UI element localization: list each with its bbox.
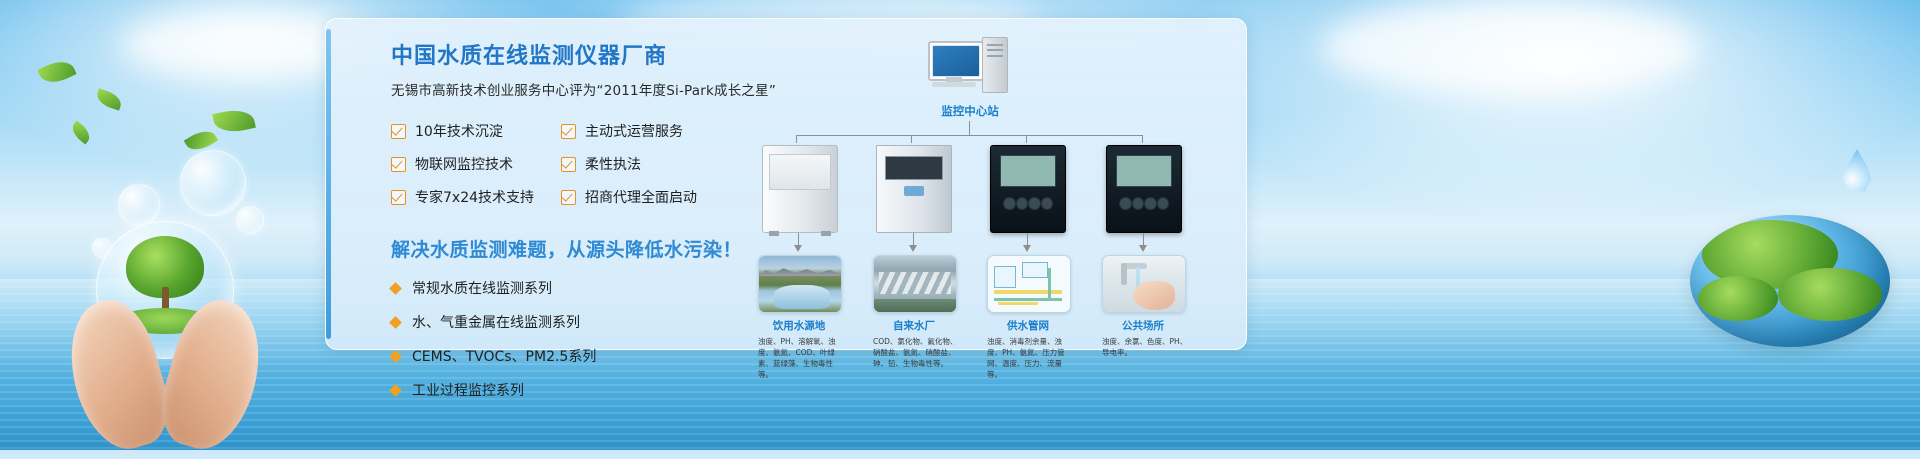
checkbox-icon: [391, 124, 406, 139]
feature-item: 招商代理全面启动: [561, 187, 731, 207]
scenario-caption: 自来水厂: [873, 318, 955, 333]
button-row: [1003, 192, 1053, 214]
feature-label: 专家7x24技术支持: [415, 187, 534, 207]
scenario-card: 自来水厂 COD、氯化物、氟化物、硝酸盐、氨氮、硝酸盐、砷、铅、生物毒性等。: [873, 255, 955, 370]
diamond-bullet-icon: [389, 350, 402, 363]
faucet-body: [1121, 263, 1127, 285]
list-item-label: 工业过程监控系列: [412, 380, 524, 400]
pipe-bar: [994, 290, 1062, 294]
river-mountain-photo: [758, 255, 842, 313]
connector-line: [911, 135, 912, 143]
pipe-line: [1048, 268, 1051, 298]
monitor-icon: [928, 41, 984, 81]
monitor-screen: [933, 46, 979, 76]
device-water-cabinet: [762, 145, 838, 233]
cabinet-foot: [821, 231, 831, 236]
feature-checklist: 10年技术沉淀 主动式运营服务 物联网监控技术 柔性执法 专家7x24技术支持 …: [391, 121, 751, 207]
lcd-screen: [1000, 155, 1056, 187]
monitor-base: [932, 82, 976, 87]
tap-hand-photo: [1102, 255, 1186, 313]
diamond-bullet-icon: [389, 384, 402, 397]
monitoring-center-computer-icon: [928, 41, 1012, 99]
connector-line: [1142, 135, 1143, 143]
device-panel-controller-1: [990, 145, 1066, 233]
scenario-card: 公共场所 浊度、余氯、色度、PH、导电率。: [1102, 255, 1184, 359]
feature-label: 柔性执法: [585, 154, 641, 174]
water-plant-photo: [873, 255, 957, 313]
connector-line: [1026, 135, 1027, 143]
pipe-line: [994, 298, 1062, 301]
list-item: CEMS、TVOCs、PM2.5系列: [391, 346, 751, 366]
arrow-head-icon: [1139, 245, 1147, 252]
rack-window: [885, 156, 943, 180]
tank-shape: [994, 266, 1016, 288]
feature-item: 10年技术沉淀: [391, 121, 561, 141]
checkbox-icon: [391, 190, 406, 205]
hands-holding-globe-illustration: [70, 215, 260, 450]
checkbox-icon: [561, 190, 576, 205]
scenario-params: 浊度、消毒剂余量、浊度、PH、氨氮、压力管网、温度、压力、流量等。: [987, 337, 1073, 381]
land-mass: [1698, 276, 1778, 321]
checkbox-icon: [561, 124, 576, 139]
feature-item: 柔性执法: [561, 154, 731, 174]
tank-shape: [1022, 262, 1048, 278]
land-mass: [1778, 268, 1882, 321]
pc-tower-icon: [982, 37, 1008, 93]
checkbox-icon: [561, 157, 576, 172]
lcd-screen: [1116, 155, 1172, 187]
connector-line: [796, 135, 797, 143]
cabinet-foot: [769, 231, 779, 236]
bubble-decoration: [180, 150, 246, 216]
scenario-card: 饮用水源地 浊度、PH、溶解氧、浊度、氨氮、COD、叶绿素、蓝绿藻、生物毒性等。: [758, 255, 840, 381]
diamond-bullet-icon: [389, 282, 402, 295]
earth-globe-illustration: [1690, 215, 1890, 365]
feature-item: 物联网监控技术: [391, 154, 561, 174]
product-series-list: 常规水质在线监测系列 水、气重金属在线监测系列 CEMS、TVOCs、PM2.5…: [391, 278, 751, 400]
button-row: [1119, 192, 1169, 214]
list-item-label: 水、气重金属在线监测系列: [412, 312, 580, 332]
list-item-label: CEMS、TVOCs、PM2.5系列: [412, 346, 596, 366]
arrow-head-icon: [1023, 245, 1031, 252]
scenario-caption: 供水管网: [987, 318, 1069, 333]
scenario-caption: 饮用水源地: [758, 318, 840, 333]
main-info-panel: 中国水质在线监测仪器厂商 无锡市高新技术创业服务中心评为“2011年度Si-Pa…: [325, 18, 1247, 350]
list-item-label: 常规水质在线监测系列: [412, 278, 552, 298]
device-panel-controller-2: [1106, 145, 1182, 233]
list-item: 常规水质在线监测系列: [391, 278, 751, 298]
cloud-decoration: [1320, 0, 1700, 95]
feature-item: 专家7x24技术支持: [391, 187, 561, 207]
feature-label: 主动式运营服务: [585, 121, 683, 141]
feature-label: 招商代理全面启动: [585, 187, 697, 207]
checkbox-icon: [391, 157, 406, 172]
cabinet-door: [769, 154, 831, 190]
section-subheading: 解决水质监测难题，从源头降低水污染！: [391, 235, 751, 262]
device-rack-analyzer: [876, 145, 952, 233]
feature-label: 10年技术沉淀: [415, 121, 503, 141]
arrow-head-icon: [909, 245, 917, 252]
page-title: 中国水质在线监测仪器厂商: [391, 43, 751, 71]
panel-text-column: 中国水质在线监测仪器厂商 无锡市高新技术创业服务中心评为“2011年度Si-Pa…: [391, 43, 751, 414]
scenario-caption: 公共场所: [1102, 318, 1184, 333]
page-subtitle: 无锡市高新技术创业服务中心评为“2011年度Si-Park成长之星”: [391, 82, 751, 101]
feature-label: 物联网监控技术: [415, 154, 513, 174]
diamond-bullet-icon: [389, 316, 402, 329]
pipe-bar: [998, 302, 1038, 305]
list-item: 工业过程监控系列: [391, 380, 751, 400]
connector-line: [796, 135, 1142, 136]
list-item: 水、气重金属在线监测系列: [391, 312, 751, 332]
scenario-params: 浊度、余氯、色度、PH、导电率。: [1102, 337, 1188, 359]
pipeline-diagram: [987, 255, 1071, 313]
monitoring-center-label: 监控中心站: [884, 103, 1056, 119]
scenario-params: 浊度、PH、溶解氧、浊度、氨氮、COD、叶绿素、蓝绿藻、生物毒性等。: [758, 337, 844, 381]
earth-ball: [1690, 215, 1890, 347]
rack-panel: [904, 186, 924, 196]
scenario-card: 供水管网 浊度、消毒剂余量、浊度、PH、氨氮、压力管网、温度、压力、流量等。: [987, 255, 1069, 381]
connector-line: [969, 121, 970, 135]
feature-item: 主动式运营服务: [561, 121, 731, 141]
scenario-params: COD、氯化物、氟化物、硝酸盐、氨氮、硝酸盐、砷、铅、生物毒性等。: [873, 337, 959, 370]
arrow-head-icon: [794, 245, 802, 252]
system-architecture-diagram: 监控中心站: [756, 33, 1226, 343]
hand-shape: [1133, 281, 1176, 310]
